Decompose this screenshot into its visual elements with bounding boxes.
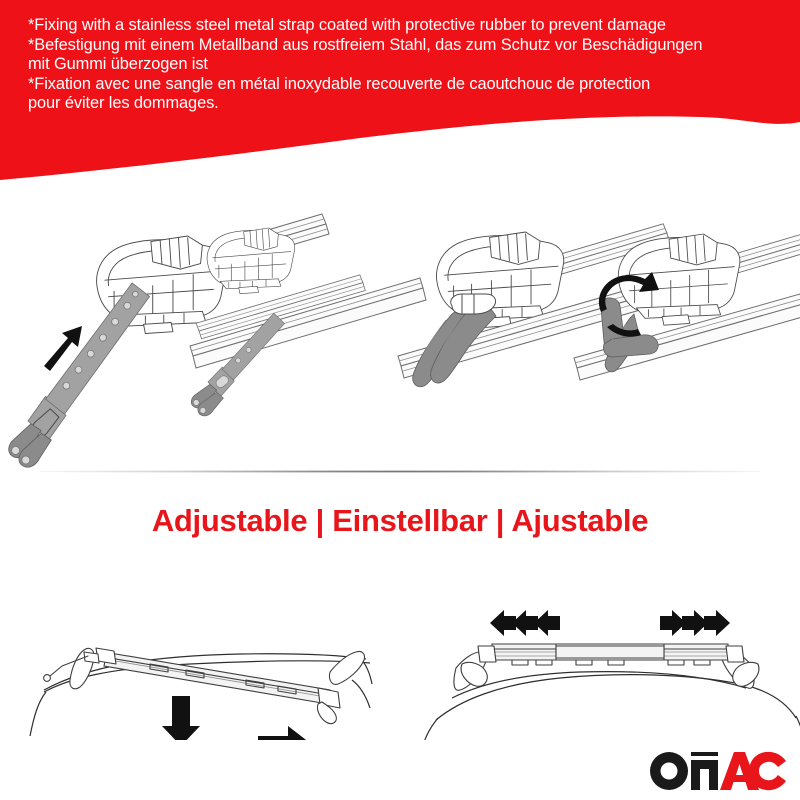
section-divider (40, 470, 760, 473)
installation-steps-strip: .ln { fill:none; stroke:#4a4a4a; stroke-… (0, 196, 800, 470)
diagram-width-adjust (420, 610, 800, 740)
triple-left-chevron-icon (490, 610, 560, 636)
logo-letter-o (650, 752, 688, 790)
omac-logo (648, 748, 788, 794)
crossbar-icon (44, 648, 340, 724)
installation-steps-svg: .ln { fill:none; stroke:#4a4a4a; stroke-… (0, 196, 800, 470)
logo-letter-c (749, 752, 786, 790)
page-title: Adjustable | Einstellbar | Ajustable (0, 503, 800, 539)
red-banner: *Fixing with a stainless steel metal str… (0, 0, 800, 200)
infographic-page: *Fixing with a stainless steel metal str… (0, 0, 800, 800)
adjustable-diagrams-svg: .cln { fill:none; stroke:#3f3f3f; stroke… (0, 560, 800, 740)
logo-letter-m (691, 752, 718, 790)
banner-description: *Fixing with a stainless steel metal str… (28, 16, 784, 114)
right-arrow-icon (258, 726, 310, 740)
diagram-place-crossbar (30, 648, 372, 740)
down-arrow-icon (162, 696, 200, 740)
install-step-2 (181, 228, 426, 419)
adjustable-diagrams-strip: .cln { fill:none; stroke:#3f3f3f; stroke… (0, 560, 800, 740)
triple-right-chevron-icon (660, 610, 730, 636)
omac-logo-svg (648, 748, 788, 794)
